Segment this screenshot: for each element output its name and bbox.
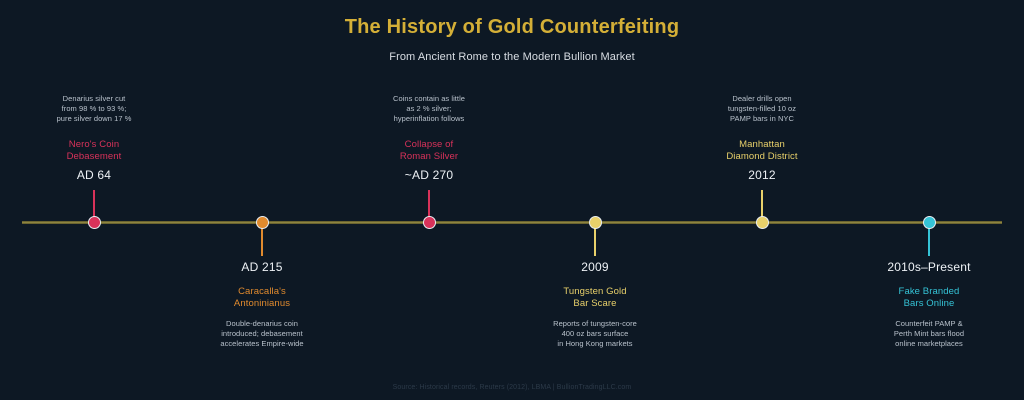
event-description-line: pure silver down 17 % (0, 114, 194, 124)
event-description-line: Coins contain as little (329, 94, 529, 104)
event-label-line: Nero's Coin (0, 139, 194, 151)
event-label: Nero's CoinDebasement (0, 139, 194, 163)
event-label-line: Roman Silver (329, 151, 529, 163)
event-date: 2009 (495, 260, 695, 274)
event-description-line: tungsten-filled 10 oz (662, 104, 862, 114)
event-label: Fake BrandedBars Online (829, 286, 1024, 310)
event-label: ManhattanDiamond District (662, 139, 862, 163)
event-description-line: from 98 % to 93 %; (0, 104, 194, 114)
event-description-line: PAMP bars in NYC (662, 114, 862, 124)
event-description-line: online marketplaces (829, 339, 1024, 349)
event-label-line: Caracalla's (162, 286, 362, 298)
event-description-line: Double-denarius coin (162, 319, 362, 329)
event-label-line: Tungsten Gold (495, 286, 695, 298)
event-stem (93, 190, 95, 224)
source-note: Source: Historical records, Reuters (201… (0, 384, 1024, 391)
event-description-line: introduced; debasement (162, 329, 362, 339)
page-title: The History of Gold Counterfeiting (0, 16, 1024, 39)
event-description: Dealer drills opentungsten-filled 10 ozP… (662, 94, 862, 124)
event-date: AD 215 (162, 260, 362, 274)
event-description-line: 400 oz bars surface (495, 329, 695, 339)
event-description: Reports of tungsten-core400 oz bars surf… (495, 319, 695, 349)
event-description-line: accelerates Empire-wide (162, 339, 362, 349)
event-description: Double-denarius coinintroduced; debaseme… (162, 319, 362, 349)
event-stem (594, 222, 596, 256)
event-description-line: as 2 % silver; (329, 104, 529, 114)
event-description-line: Denarius silver cut (0, 94, 194, 104)
event-description: Coins contain as littleas 2 % silver;hyp… (329, 94, 529, 124)
event-description-line: Dealer drills open (662, 94, 862, 104)
event-label-line: Diamond District (662, 151, 862, 163)
page-subtitle: From Ancient Rome to the Modern Bullion … (0, 51, 1024, 63)
event-label-line: Bars Online (829, 298, 1024, 310)
event-description: Counterfeit PAMP &Perth Mint bars floodo… (829, 319, 1024, 349)
event-description-line: Reports of tungsten-core (495, 319, 695, 329)
event-label-line: Debasement (0, 151, 194, 163)
event-label: Collapse ofRoman Silver (329, 139, 529, 163)
event-date: 2010s–Present (829, 260, 1024, 274)
event-date: AD 64 (0, 168, 194, 182)
event-date: 2012 (662, 168, 862, 182)
event-description-line: hyperinflation follows (329, 114, 529, 124)
event-label: Tungsten GoldBar Scare (495, 286, 695, 310)
event-label-line: Bar Scare (495, 298, 695, 310)
event-label-line: Collapse of (329, 139, 529, 151)
timeline-axis-highlight (22, 222, 1002, 223)
event-description-line: in Hong Kong markets (495, 339, 695, 349)
event-stem (428, 190, 430, 224)
event-stem (261, 222, 263, 256)
event-label-line: Fake Branded (829, 286, 1024, 298)
event-date: ~AD 270 (329, 168, 529, 182)
event-label-line: Antoninianus (162, 298, 362, 310)
event-label-line: Manhattan (662, 139, 862, 151)
event-label: Caracalla'sAntoninianus (162, 286, 362, 310)
event-description-line: Perth Mint bars flood (829, 329, 1024, 339)
event-description-line: Counterfeit PAMP & (829, 319, 1024, 329)
timeline-infographic: The History of Gold Counterfeiting From … (0, 0, 1024, 400)
event-stem (928, 222, 930, 256)
event-stem (761, 190, 763, 224)
event-description: Denarius silver cutfrom 98 % to 93 %;pur… (0, 94, 194, 124)
